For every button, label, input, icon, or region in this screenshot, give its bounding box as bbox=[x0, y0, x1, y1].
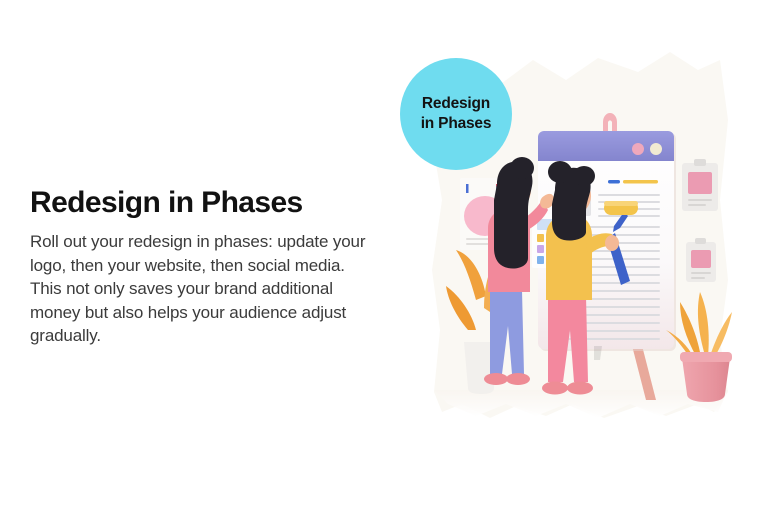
body-paragraph: Roll out your redesign in phases: update… bbox=[30, 230, 378, 348]
badge-redesign-in-phases: Redesign in Phases bbox=[400, 58, 512, 170]
page-title: Redesign in Phases bbox=[30, 186, 380, 220]
slide-root: Redesign in Phases Roll out your redesig… bbox=[0, 0, 768, 512]
badge-label: Redesign in Phases bbox=[421, 94, 492, 134]
accent-line-yellow bbox=[623, 180, 658, 184]
accent-line-blue bbox=[608, 180, 620, 184]
browser-dot-pink bbox=[632, 143, 644, 155]
clipboard-small bbox=[686, 238, 716, 282]
clipboard-large bbox=[682, 159, 718, 211]
browser-dot-cream bbox=[650, 143, 662, 155]
illustration: Redesign in Phases bbox=[398, 0, 768, 512]
text-column: Redesign in Phases Roll out your redesig… bbox=[30, 186, 380, 348]
